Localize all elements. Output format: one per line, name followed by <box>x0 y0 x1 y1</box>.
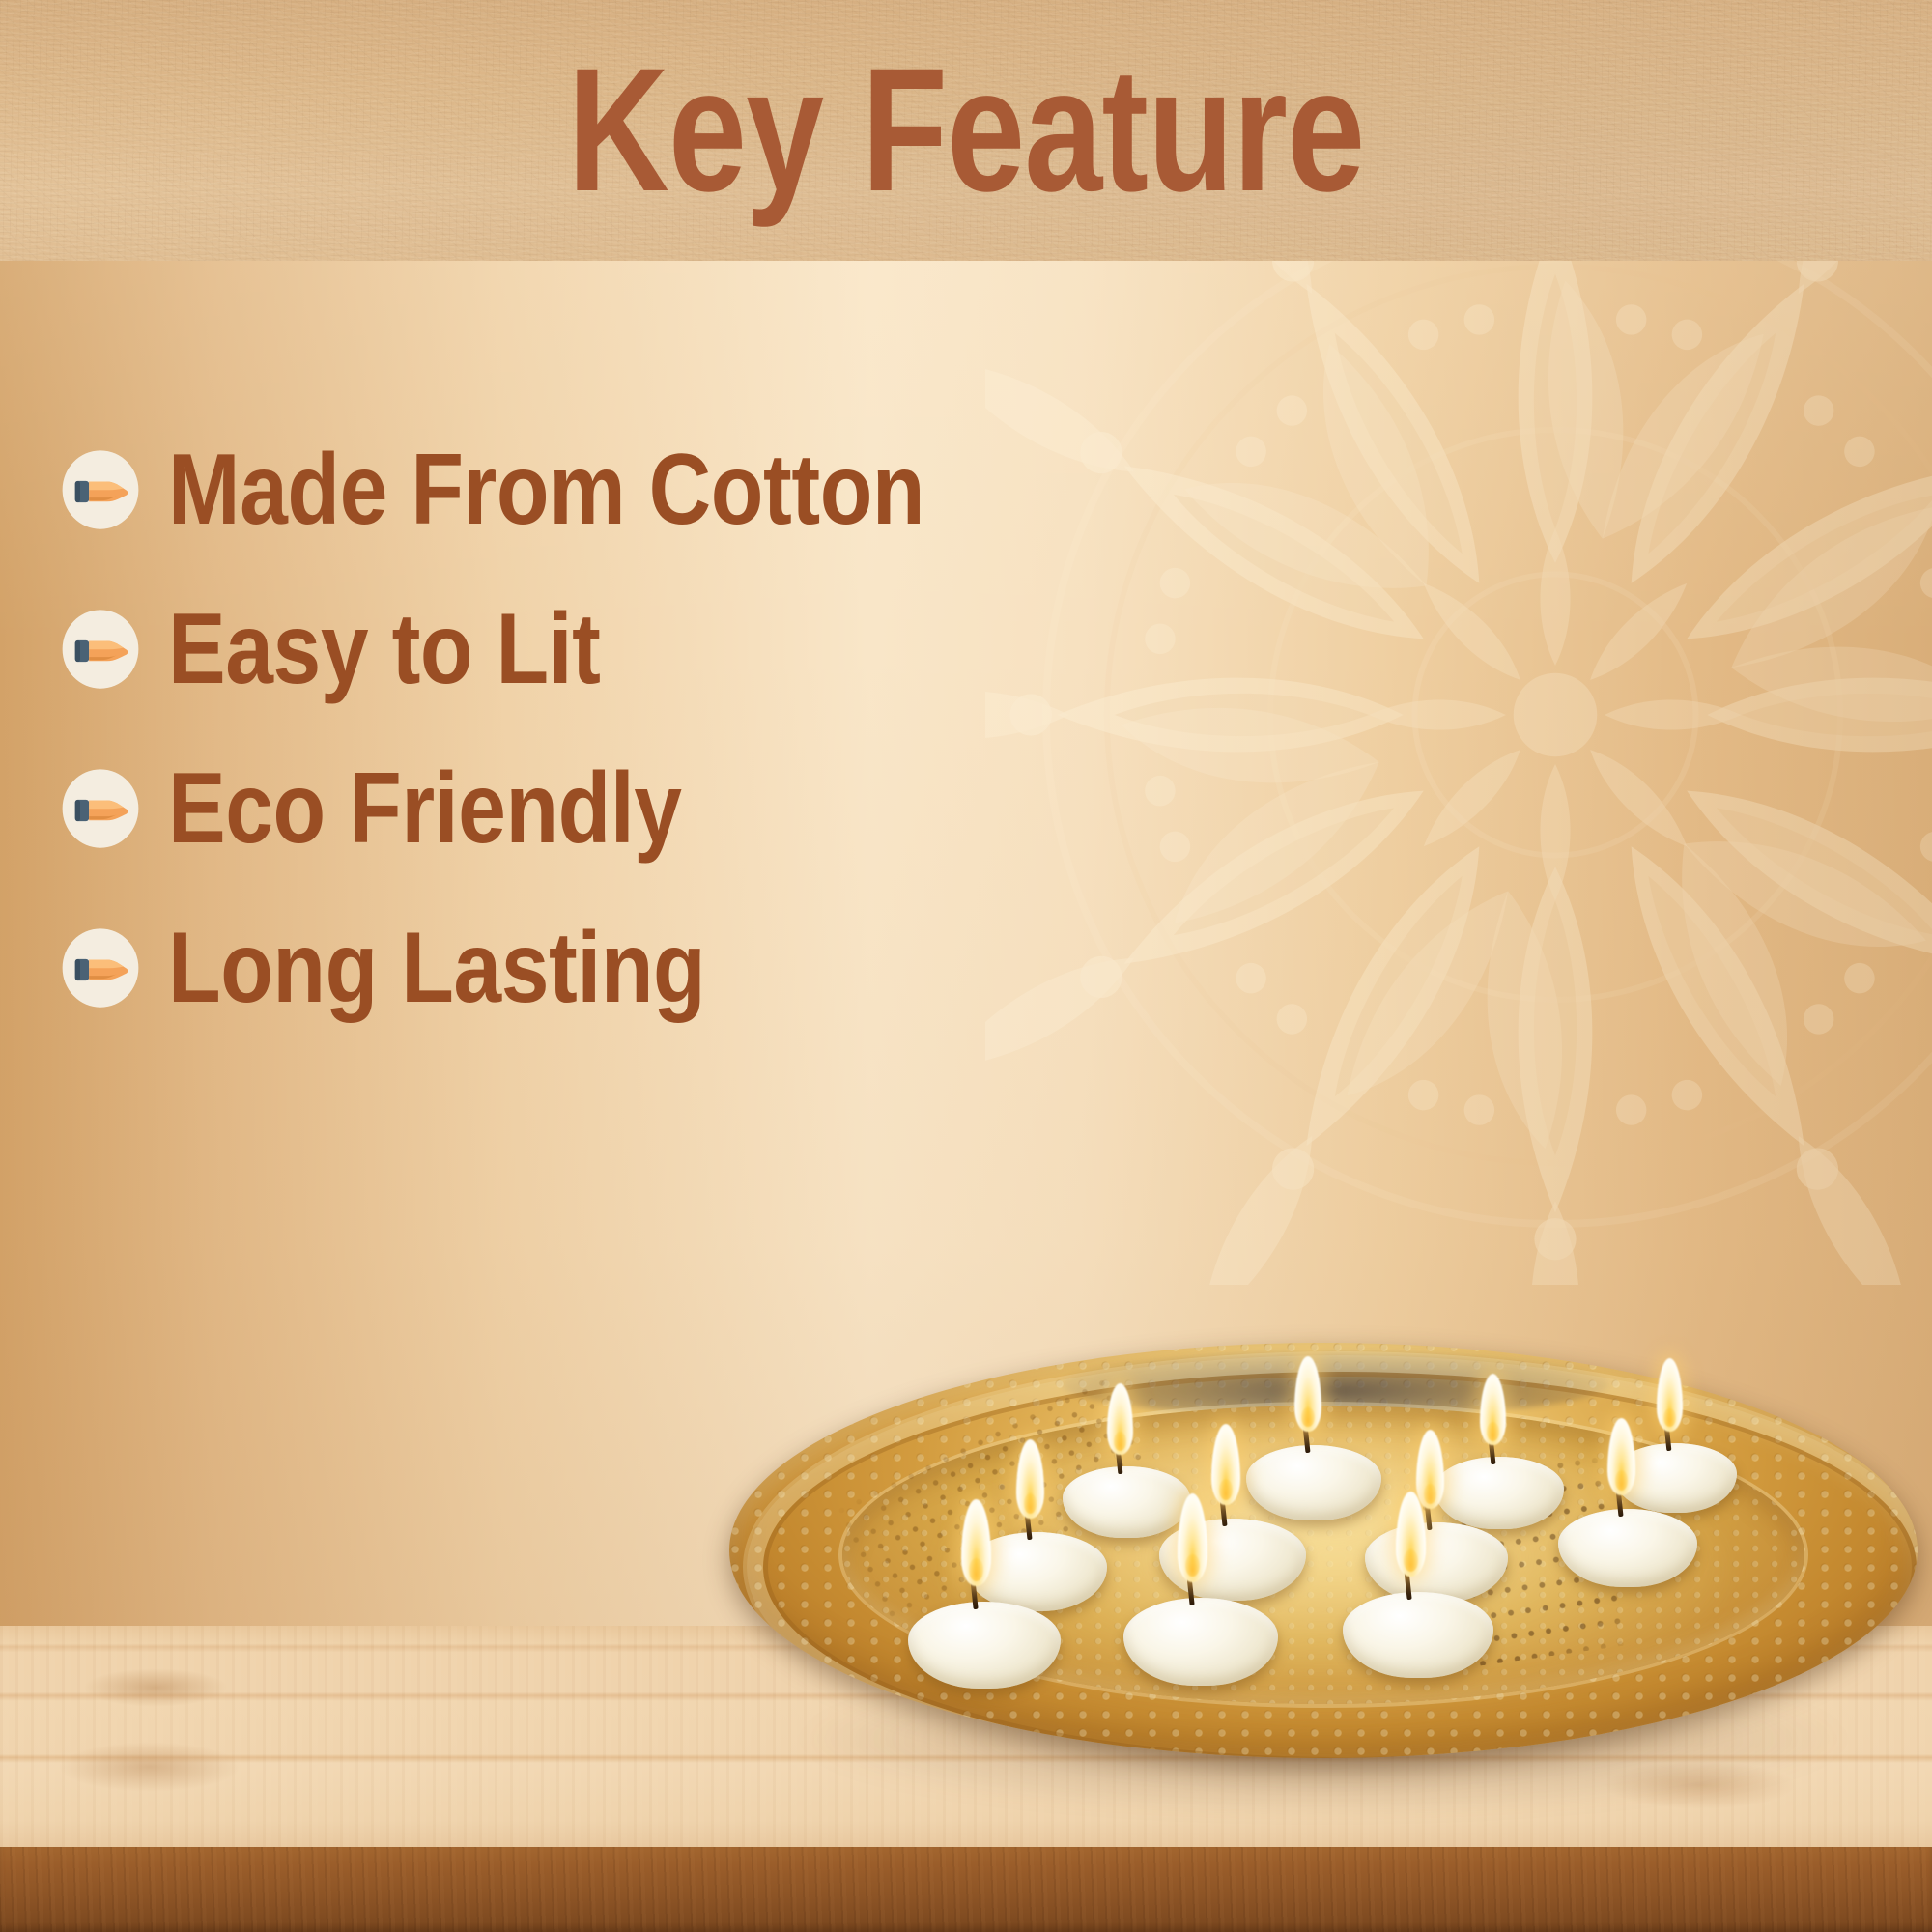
candle-wax <box>1123 1598 1278 1686</box>
feature-label: Eco Friendly <box>168 758 682 859</box>
feature-item: Eco Friendly <box>60 728 1316 888</box>
candle-wax <box>1063 1466 1190 1538</box>
candle-wax <box>1365 1522 1508 1603</box>
pointing-right-hand-icon <box>60 768 141 849</box>
candle-wax <box>908 1602 1061 1689</box>
candle-flame <box>1294 1356 1321 1432</box>
candle-flame <box>1416 1430 1444 1509</box>
candle-flame <box>1107 1383 1133 1455</box>
feature-label: Long Lasting <box>168 918 705 1018</box>
feature-item: Made From Cotton <box>60 410 1316 569</box>
candle-group <box>720 1343 1932 1797</box>
wood-knot <box>83 1668 228 1707</box>
candle-flame <box>961 1499 991 1586</box>
feature-list: Made From Cotton Easy to Lit <box>60 410 1316 1047</box>
pointing-right-hand-icon <box>60 449 141 530</box>
candle-flame <box>1480 1374 1506 1445</box>
product-feature-banner: Key Feature <box>0 0 1932 1932</box>
candle-wax <box>1558 1509 1697 1587</box>
candle-wax <box>1435 1457 1564 1529</box>
feature-item: Long Lasting <box>60 888 1316 1047</box>
product-image <box>720 1343 1932 1797</box>
candle-flame <box>1657 1358 1683 1432</box>
page-title: Key Feature <box>193 14 1739 245</box>
header-band: Key Feature <box>0 0 1932 261</box>
candle-flame <box>1178 1493 1207 1582</box>
candle-wax <box>1246 1445 1381 1520</box>
pointing-right-hand-icon <box>60 927 141 1009</box>
candle-flame <box>1016 1439 1044 1519</box>
candle-flame <box>1607 1418 1635 1495</box>
candle-flame <box>1211 1424 1240 1505</box>
candle-wax <box>1343 1592 1493 1678</box>
wood-knot <box>58 1742 241 1792</box>
feature-label: Easy to Lit <box>168 599 601 699</box>
table-front-edge <box>0 1847 1932 1932</box>
pointing-right-hand-icon <box>60 609 141 690</box>
feature-item: Easy to Lit <box>60 569 1316 728</box>
feature-label: Made From Cotton <box>168 440 924 540</box>
